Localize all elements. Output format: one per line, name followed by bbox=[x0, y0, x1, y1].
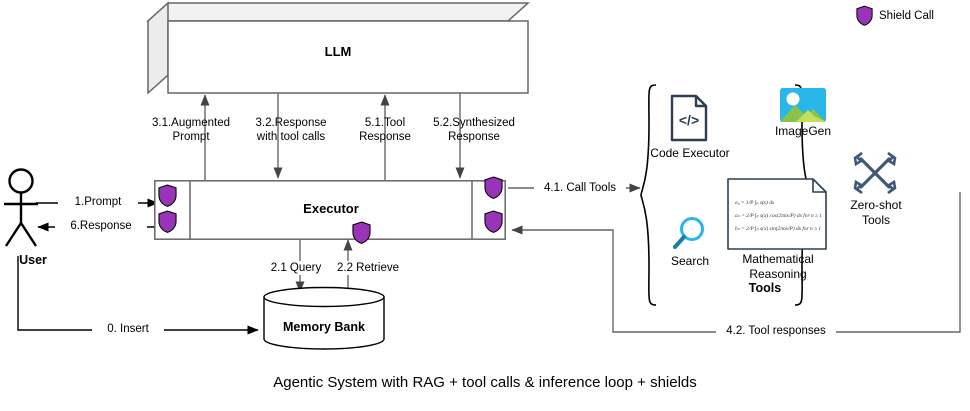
llm-label: LLM bbox=[148, 44, 528, 59]
edge-label-tool-response: 5.1.Tool Response bbox=[348, 116, 422, 144]
shield-icon-executor-in-top bbox=[158, 184, 177, 207]
edge-label-insert: 0. Insert bbox=[92, 322, 164, 336]
executor-label: Executor bbox=[190, 201, 472, 216]
tool-label-zero-shot-tools: Zero-shot Tools bbox=[834, 198, 918, 227]
svg-text:aₙ = 2/P ∫ₚ s(x) cos(2πnx/P) d: aₙ = 2/P ∫ₚ s(x) cos(2πnx/P) dx for n ≥ … bbox=[735, 212, 822, 219]
tool-label-code-executor: Code Executor bbox=[645, 146, 735, 161]
shield-icon-executor-memory bbox=[352, 221, 371, 244]
shield-icon-executor-out-bottom bbox=[484, 210, 503, 233]
crossed-wrenches-icon[interactable] bbox=[850, 148, 900, 198]
tool-label-mathematical-reasoning: Mathematical Reasoning bbox=[722, 252, 834, 281]
tool-label-search: Search bbox=[648, 254, 732, 269]
memory-bank-label: Memory Bank bbox=[263, 320, 385, 334]
edge-label-prompt: 1.Prompt bbox=[58, 195, 138, 209]
memory-bank-node[interactable] bbox=[263, 286, 385, 350]
shield-icon-legend bbox=[856, 5, 873, 26]
shield-icon-executor-out-top bbox=[484, 176, 503, 199]
user-actor[interactable] bbox=[4, 168, 66, 248]
user-label: User bbox=[0, 253, 66, 267]
edge-label-synthesized-response: 5.2.Synthesized Response bbox=[424, 116, 524, 144]
tools-left-brace bbox=[640, 84, 658, 306]
magnifier-icon[interactable] bbox=[672, 215, 708, 251]
edge-label-tool-responses: 4.2. Tool responses bbox=[716, 324, 836, 338]
edge-label-query: 2.1 Query bbox=[262, 261, 330, 275]
edge-label-response: 6.Response bbox=[55, 219, 147, 233]
edge-label-response-with-tool-calls: 3.2.Response with tool calls bbox=[238, 116, 344, 144]
edge-label-call-tools: 4.1. Call Tools bbox=[534, 181, 626, 195]
svg-text:bₙ = 2/P ∫ₚ s(x) sin(2πnx/P) d: bₙ = 2/P ∫ₚ s(x) sin(2πnx/P) dx for n ≥ … bbox=[735, 225, 821, 232]
diagram-caption: Agentic System with RAG + tool calls & i… bbox=[0, 374, 970, 391]
code-document-icon[interactable]: </> bbox=[670, 94, 708, 142]
shield-icon-executor-in-bottom bbox=[158, 210, 177, 233]
legend-label: Shield Call bbox=[879, 10, 934, 22]
formula-document-icon[interactable]: a₀ = 1/P ∫ₚ s(x) dx aₙ = 2/P ∫ₚ s(x) cos… bbox=[727, 178, 827, 250]
edge-label-augmented-prompt: 3.1.Augmented Prompt bbox=[142, 116, 240, 144]
tool-label-imagegen: ImageGen bbox=[758, 124, 848, 139]
edge-label-retrieve: 2.2 Retrieve bbox=[330, 261, 406, 275]
svg-text:a₀ = 1/P ∫ₚ s(x) dx: a₀ = 1/P ∫ₚ s(x) dx bbox=[735, 199, 775, 206]
legend: Shield Call bbox=[856, 5, 934, 26]
svg-text:</>: </> bbox=[679, 112, 699, 128]
tools-group-label: Tools bbox=[700, 281, 830, 295]
image-icon[interactable] bbox=[780, 88, 826, 122]
